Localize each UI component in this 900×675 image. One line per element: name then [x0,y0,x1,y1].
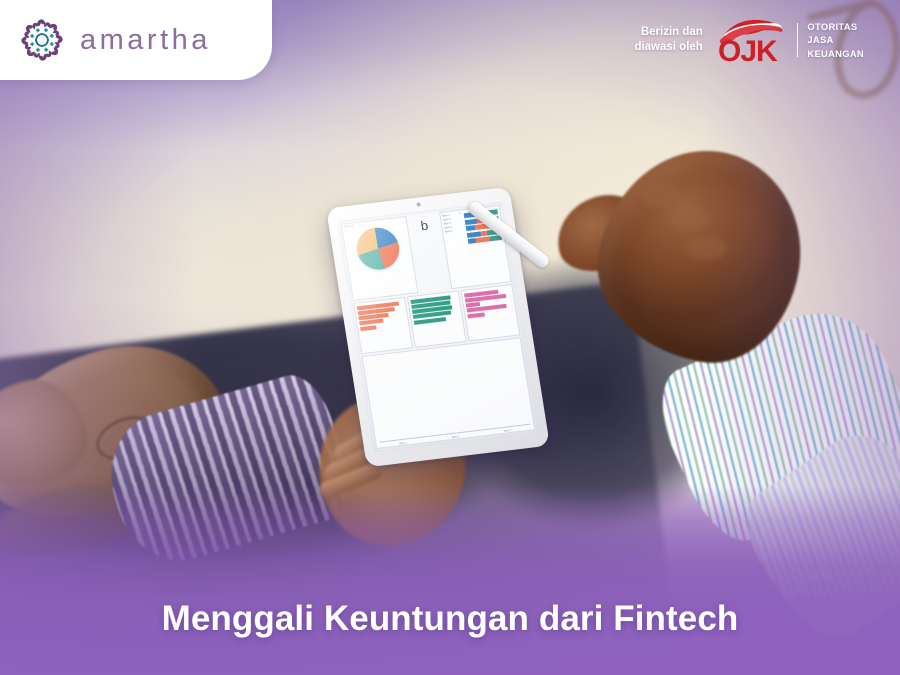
ojk-badge: Berizin dan diawasi oleh OJK OTORITAS JA… [634,13,864,67]
ojk-name: OTORITAS JASA KEUANGAN [807,20,864,61]
page-title: Menggali Keuntungan dari Fintech [0,599,900,639]
ojk-caption: Berizin dan diawasi oleh [634,25,702,54]
brand-wordmark: amartha [80,24,211,57]
promo-banner: Chart A b 0 25 50 75 Item 1 Item [0,0,900,675]
bottom-gradient-overlay [0,485,900,675]
brand-logo-card[interactable]: amartha [0,0,272,80]
amartha-mandala-icon [14,12,70,68]
ojk-divider [797,23,799,57]
ojk-logo-icon: OJK [712,13,788,67]
svg-text:OJK: OJK [718,35,778,67]
